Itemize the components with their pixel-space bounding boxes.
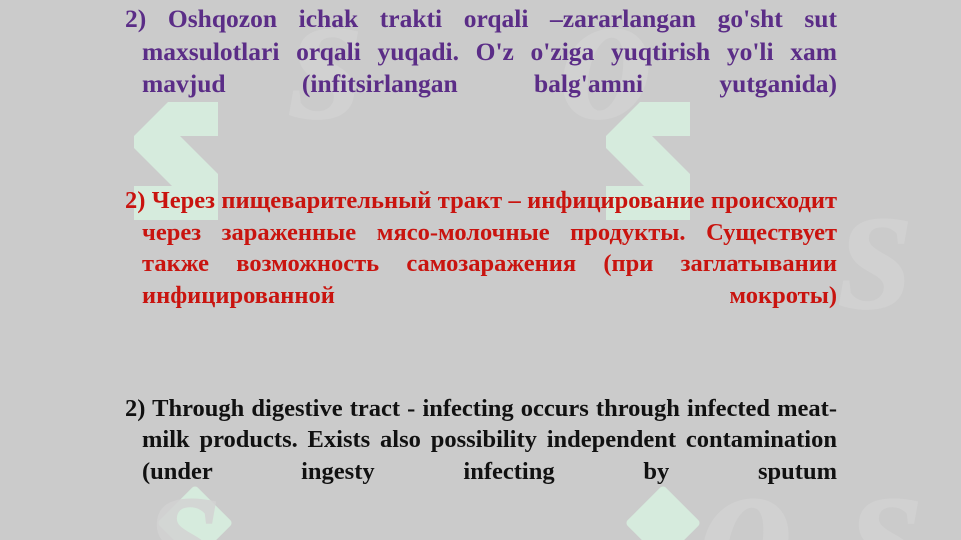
- list-marker: 2): [125, 395, 152, 422]
- letter-watermark: s: [850, 430, 924, 540]
- list-marker: 2): [125, 187, 152, 214]
- slide-canvas: s o s s o s 2) Oshqozon ichak trakti orq…: [0, 0, 961, 540]
- paragraph-uzbek: 2) Oshqozon ichak trakti orqali –zararla…: [125, 3, 837, 133]
- paragraph-english: 2) Through digestive tract - infecting o…: [125, 393, 837, 519]
- letter-watermark: s: [840, 150, 914, 340]
- list-marker: 2): [125, 4, 168, 33]
- slide-body: 2) Oshqozon ichak trakti orqali –zararla…: [125, 0, 837, 519]
- paragraph-russian: 2) Через пищеварительный тракт – инфицир…: [125, 185, 837, 343]
